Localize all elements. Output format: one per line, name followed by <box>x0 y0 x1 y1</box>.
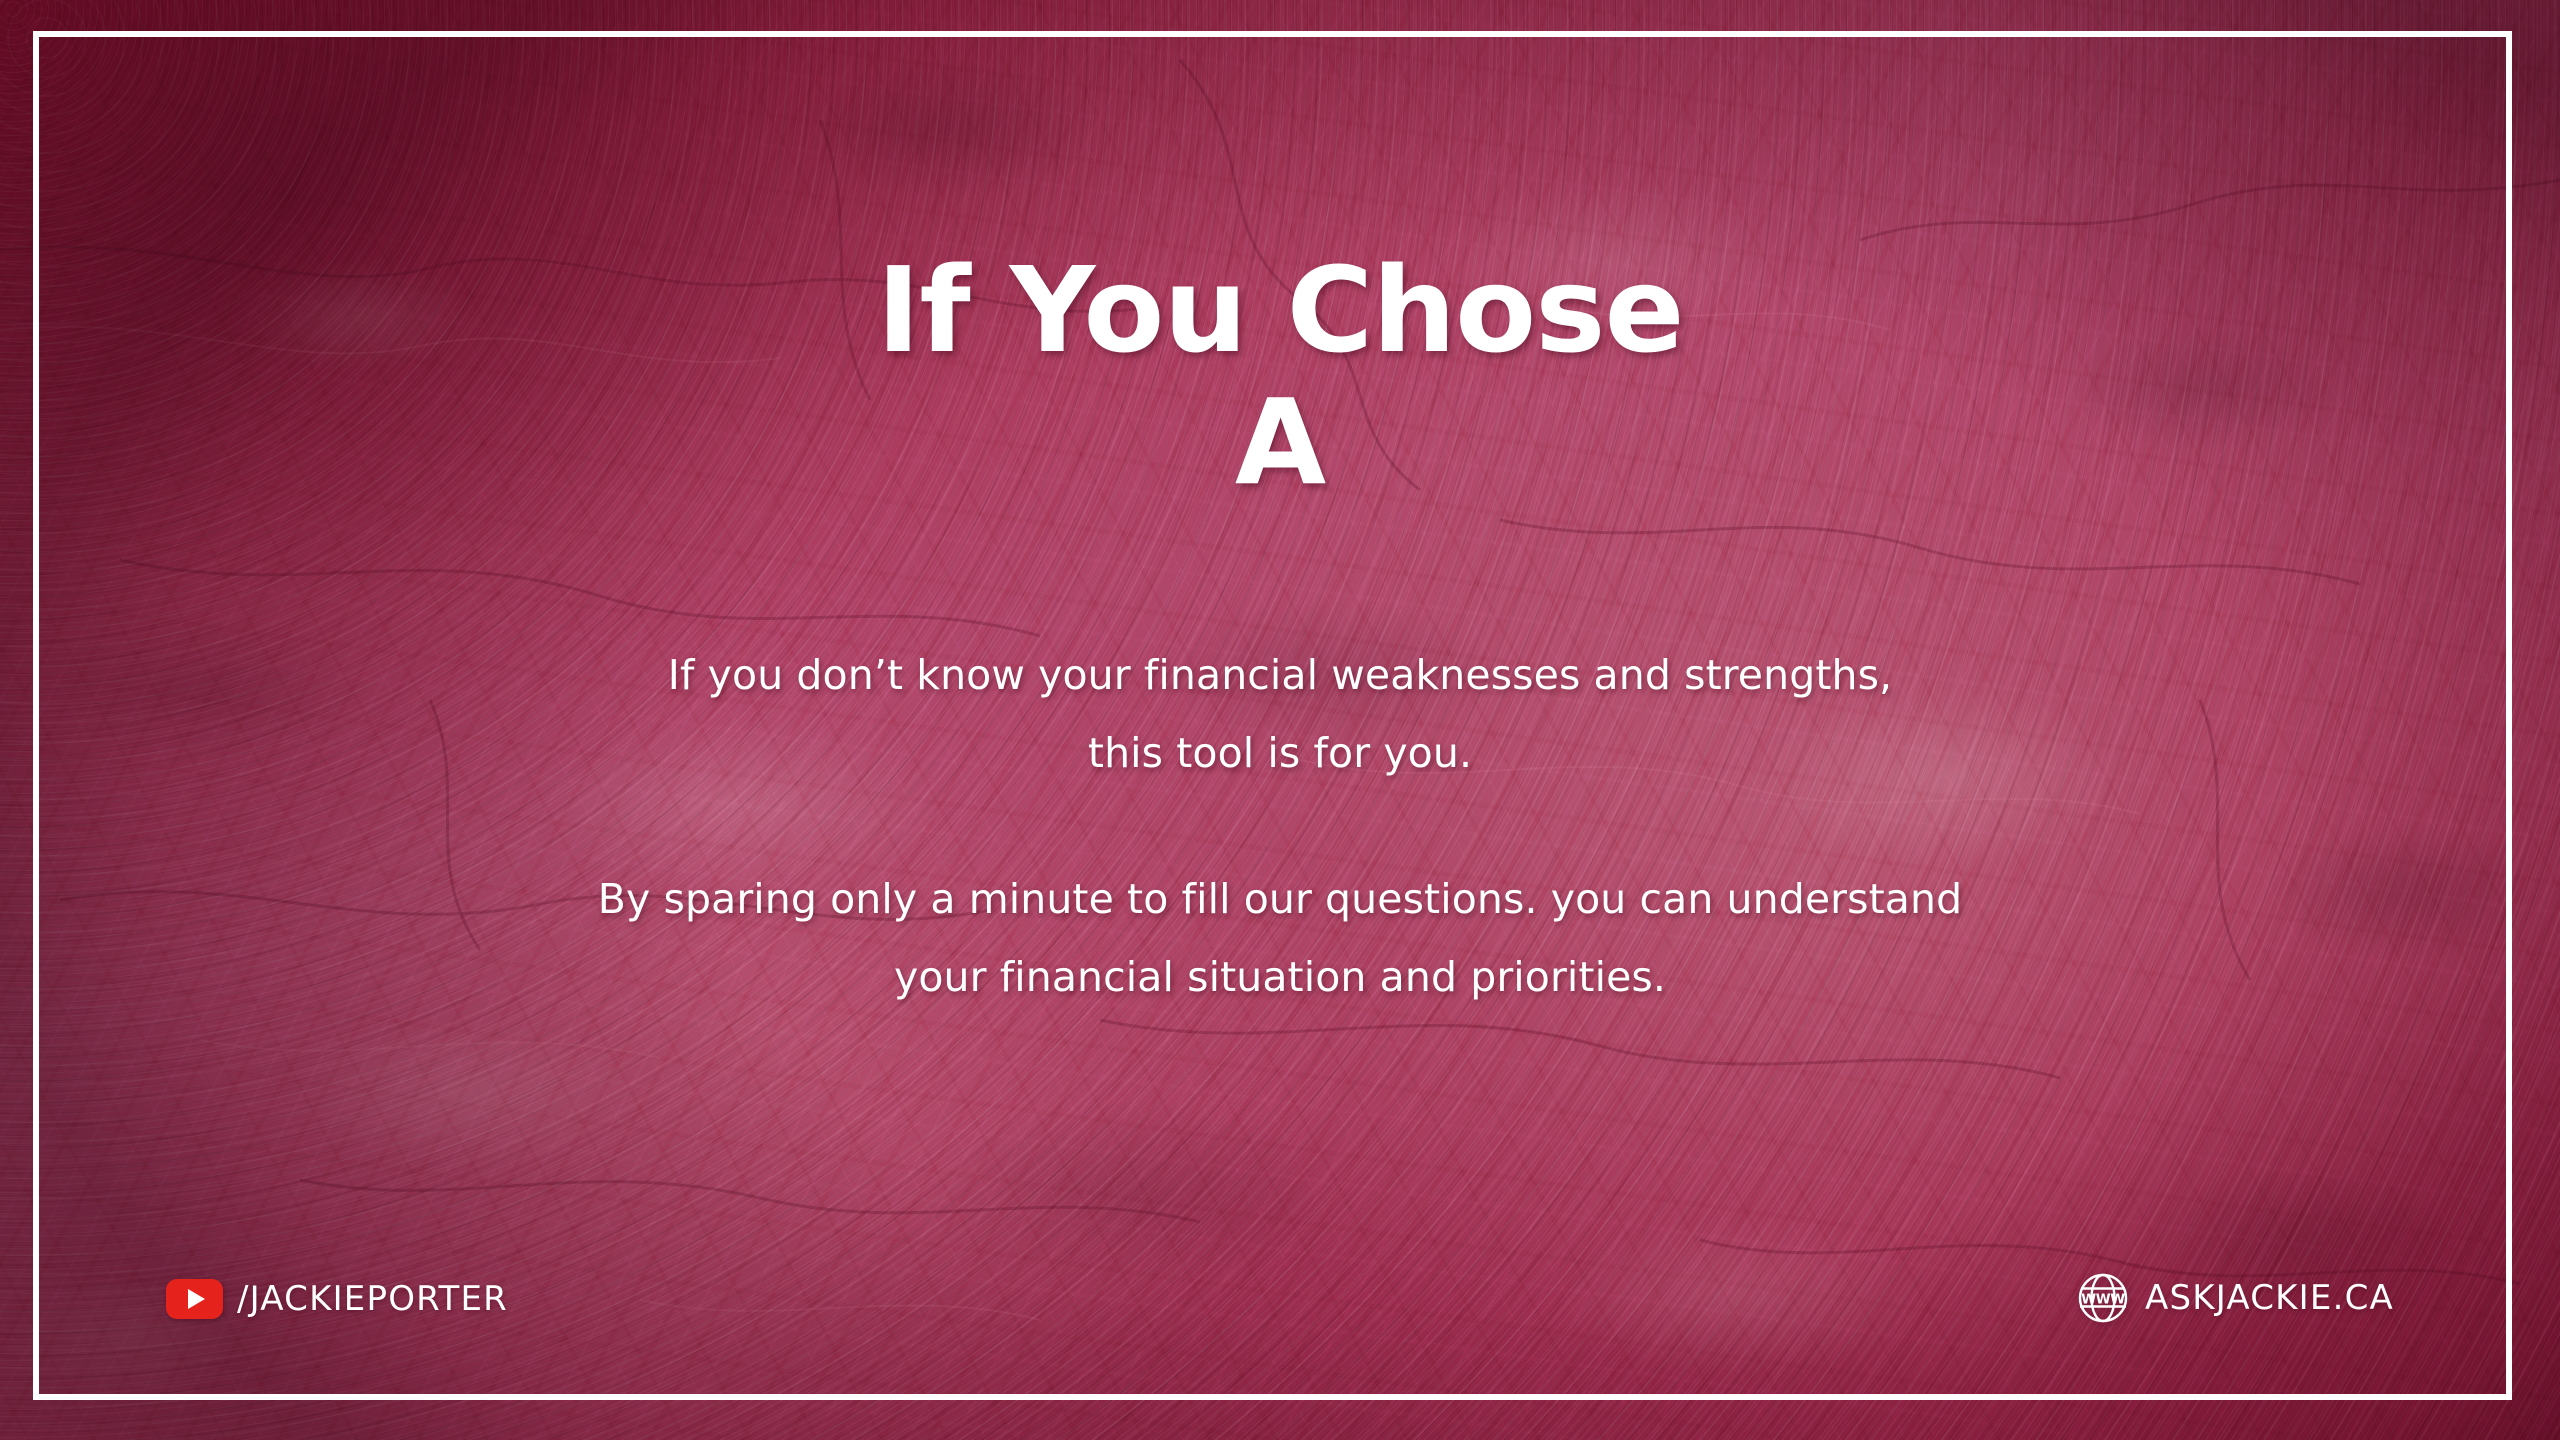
youtube-handle-label: /JACKIEPORTER <box>237 1282 508 1316</box>
website-link[interactable]: WWW ASKJACKIE.CA <box>2077 1272 2394 1324</box>
headline: If You Chose A <box>0 249 2560 505</box>
website-url-label: ASKJACKIE.CA <box>2145 1281 2394 1315</box>
body-paragraph-1-line-2: this tool is for you. <box>0 714 2560 792</box>
youtube-handle[interactable]: /JACKIEPORTER <box>166 1279 508 1319</box>
headline-line-1: If You Chose <box>0 249 2560 373</box>
slide-canvas: If You Chose A If you don’t know your fi… <box>0 0 2560 1440</box>
slide-content: If You Chose A If you don’t know your fi… <box>0 0 2560 1440</box>
body-paragraph-2-line-1: By sparing only a minute to fill our que… <box>0 860 2560 938</box>
body-paragraph-2: By sparing only a minute to fill our que… <box>0 860 2560 1016</box>
body-paragraph-2-line-2: your financial situation and priorities. <box>0 938 2560 1016</box>
body-copy: If you don’t know your financial weaknes… <box>0 636 2560 1016</box>
svg-text:WWW: WWW <box>2081 1292 2125 1308</box>
body-paragraph-1: If you don’t know your financial weaknes… <box>0 636 2560 792</box>
youtube-play-icon[interactable] <box>166 1279 223 1319</box>
headline-line-2: A <box>0 381 2560 505</box>
play-triangle-icon <box>188 1289 205 1309</box>
globe-www-icon[interactable]: WWW <box>2077 1272 2129 1324</box>
body-paragraph-1-line-1: If you don’t know your financial weaknes… <box>0 636 2560 714</box>
